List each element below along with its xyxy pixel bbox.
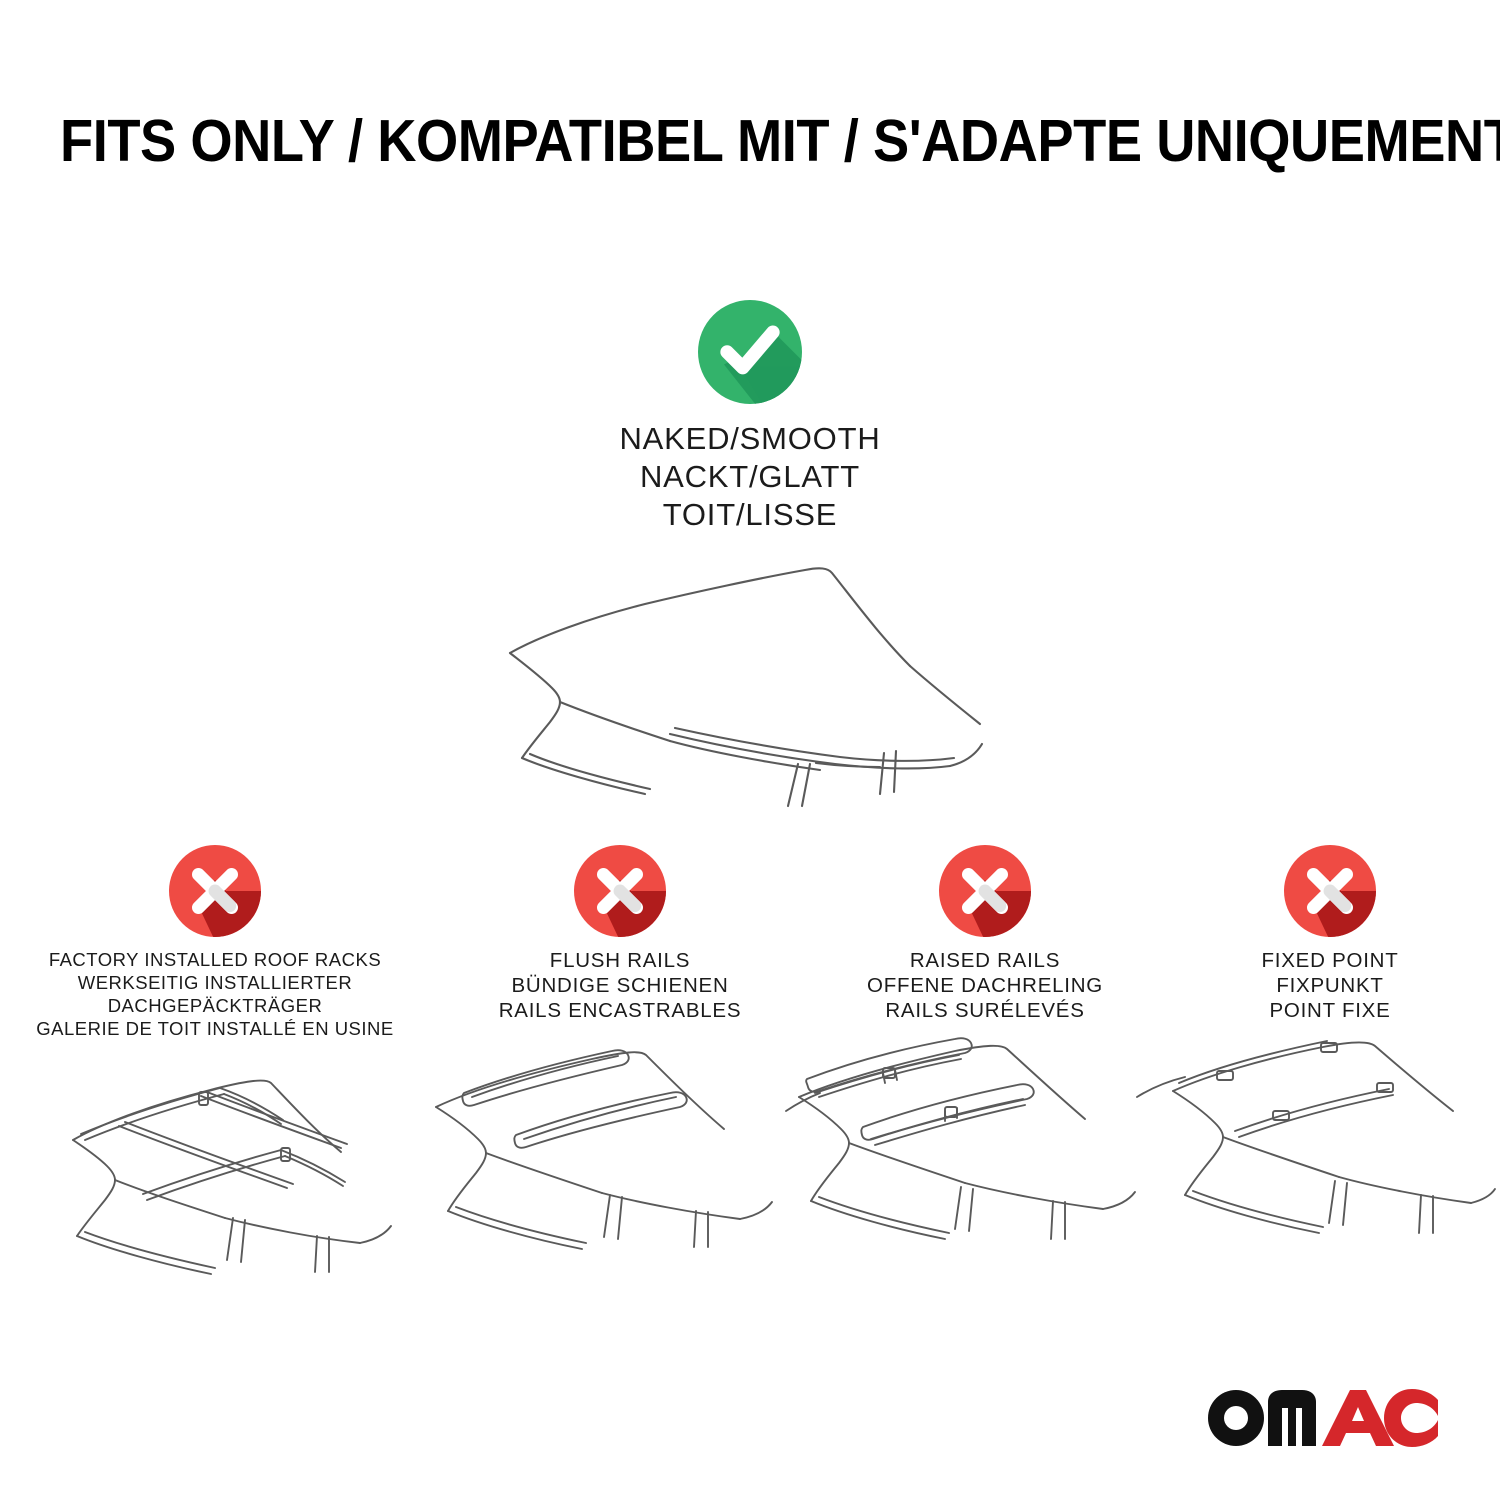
label-line-de-1: WERKSEITIG INSTALLIERTER — [36, 971, 394, 994]
label-line-en: RAISED RAILS — [867, 948, 1103, 973]
label-line-fr: RAILS SURÉLEVÉS — [867, 998, 1103, 1023]
cross-circle-icon — [169, 845, 261, 937]
label-line-de: FIXPUNKT — [1262, 973, 1399, 998]
label-line-de-2: DACHGEPÄCKTRÄGER — [36, 994, 394, 1017]
compatible-label-line-fr: TOIT/LISSE — [619, 496, 880, 534]
label-line-de: BÜNDIGE SCHIENEN — [499, 973, 742, 998]
label-line-fr: RAILS ENCASTRABLES — [499, 998, 742, 1023]
incompatible-item-flush-rails: FLUSH RAILS BÜNDIGE SCHIENEN RAILS ENCAS… — [430, 845, 810, 1250]
fixed-point-illustration — [1165, 1035, 1495, 1250]
incompatible-label-factory-roof-racks: FACTORY INSTALLED ROOF RACKS WERKSEITIG … — [36, 948, 394, 1040]
compatible-label-line-de: NACKT/GLATT — [619, 458, 880, 496]
cross-circle-icon — [574, 845, 666, 937]
cross-circle-icon — [1284, 845, 1376, 937]
label-line-en: FACTORY INSTALLED ROOF RACKS — [36, 948, 394, 971]
label-line-de: OFFENE DACHRELING — [867, 973, 1103, 998]
incompatible-item-factory-roof-racks: FACTORY INSTALLED ROOF RACKS WERKSEITIG … — [0, 845, 430, 1267]
flush-rails-illustration — [420, 1035, 820, 1250]
label-line-fr: GALERIE DE TOIT INSTALLÉ EN USINE — [36, 1017, 394, 1040]
incompatible-label-raised-rails: RAISED RAILS OFFENE DACHRELING RAILS SUR… — [867, 948, 1103, 1023]
check-circle-icon — [698, 300, 802, 404]
incompatible-label-flush-rails: FLUSH RAILS BÜNDIGE SCHIENEN RAILS ENCAS… — [499, 948, 742, 1023]
compatible-label: NAKED/SMOOTH NACKT/GLATT TOIT/LISSE — [619, 420, 880, 534]
compatible-label-line-en: NAKED/SMOOTH — [619, 420, 880, 458]
label-line-en: FIXED POINT — [1262, 948, 1399, 973]
page-title: FITS ONLY / KOMPATIBEL MIT / S'ADAPTE UN… — [60, 106, 1440, 176]
incompatible-section: FACTORY INSTALLED ROOF RACKS WERKSEITIG … — [0, 845, 1500, 1267]
incompatible-item-raised-rails: RAISED RAILS OFFENE DACHRELING RAILS SUR… — [810, 845, 1160, 1250]
smooth-roof-illustration — [480, 548, 1020, 798]
cross-circle-icon — [939, 845, 1031, 937]
incompatible-item-fixed-point: FIXED POINT FIXPUNKT POINT FIXE — [1160, 845, 1500, 1250]
omac-logo — [1206, 1386, 1438, 1450]
incompatible-label-fixed-point: FIXED POINT FIXPUNKT POINT FIXE — [1262, 948, 1399, 1023]
factory-roof-rack-illustration — [15, 1052, 415, 1267]
raised-rails-illustration — [785, 1035, 1185, 1250]
label-line-en: FLUSH RAILS — [499, 948, 742, 973]
compatible-section: NAKED/SMOOTH NACKT/GLATT TOIT/LISSE — [0, 300, 1500, 798]
label-line-fr: POINT FIXE — [1262, 998, 1399, 1023]
